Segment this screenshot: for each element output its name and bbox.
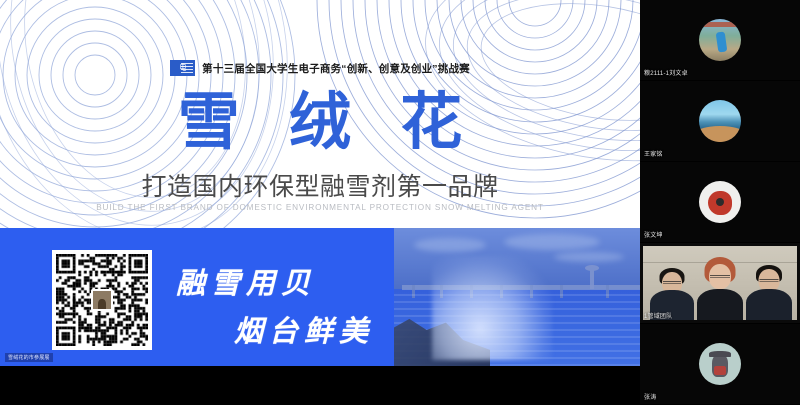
participant-tile-3[interactable]: 张文坤 [640, 162, 800, 243]
participant-tile-4-active-speaker[interactable]: 1管域团队 [640, 243, 800, 324]
participant-name: 王家铭 [644, 149, 663, 158]
slide-english-tagline: BUILD THE FIRST BRAND OF DOMESTIC ENVIRO… [0, 203, 640, 212]
meeting-screen: 电 第十三届全国大学生电子商务“创新、创意及创业”挑战赛 雪 绒 花 打造国内环… [0, 0, 800, 405]
video-room-background [643, 246, 797, 320]
competition-badge-icon: 电 [170, 60, 195, 76]
participant-rail[interactable]: 粮2111-1刘文卓 王家铭 张文坤 [640, 0, 800, 405]
competition-name: 第十三届全国大学生电子商务“创新、创意及创业”挑战赛 [202, 61, 470, 76]
participant-name: 张涛 [644, 392, 656, 401]
slide-main-title: 雪 绒 花 [0, 90, 640, 155]
avatar-sand [699, 126, 741, 142]
slide-blue-banner: 融雪用贝 烟台鲜美 [0, 228, 640, 366]
participant-name: 1管域团队 [644, 311, 672, 320]
participant-name: 张文坤 [644, 230, 663, 239]
qr-center-figure [98, 299, 106, 311]
cloud-shape [414, 238, 486, 252]
person-body [746, 289, 792, 320]
avatar-eye [716, 198, 724, 206]
cloud-shape [504, 234, 600, 250]
participant-tile-2[interactable]: 王家铭 [640, 81, 800, 162]
avatar-accent [714, 366, 726, 375]
participant-tile-5[interactable]: 张涛 [640, 324, 800, 405]
competition-header: 电 第十三届全国大学生电子商务“创新、创意及创业”挑战赛 [0, 60, 640, 76]
person-right [745, 262, 793, 320]
presentation-slide: 电 第十三届全国大学生电子商务“创新、创意及创业”挑战赛 雪 绒 花 打造国内环… [0, 0, 640, 405]
shared-screen-stage[interactable]: 电 第十三届全国大学生电子商务“创新、创意及创业”挑战赛 雪 绒 花 打造国内环… [0, 0, 640, 405]
calligraphy-line-1: 融雪用贝 [176, 270, 316, 299]
person-glasses [760, 279, 779, 282]
wave-spray [432, 256, 552, 360]
avatar-figure [715, 31, 727, 52]
person-body [697, 289, 743, 320]
avatar-beach-photo [699, 100, 741, 142]
qr-code-icon[interactable] [52, 250, 152, 350]
avatar-anime-teal [699, 343, 741, 385]
participant-tile-1[interactable]: 粮2111-1刘文卓 [640, 0, 800, 81]
cloud-shape [554, 252, 624, 262]
qr-center-logo [91, 289, 113, 311]
badge-lines [181, 63, 193, 73]
calligraphy-slogan: 融雪用贝 烟台鲜美 [176, 256, 396, 356]
coastal-pier-waves-photo [394, 228, 640, 366]
person-center [695, 256, 745, 320]
slide-watermark: 雪绒花的市参展展 [5, 353, 53, 362]
avatar-hat [709, 351, 731, 358]
participant-name: 粮2111-1刘文卓 [644, 68, 688, 77]
slide-upper-section: 电 第十三届全国大学生电子商务“创新、创意及创业”挑战赛 雪 绒 花 打造国内环… [0, 0, 640, 228]
avatar-cartoon-red [699, 181, 741, 223]
slide-letterbox [0, 366, 640, 405]
avatar-outdoor-photo [699, 19, 741, 61]
pier-tower [590, 269, 594, 289]
calligraphy-line-2: 烟台鲜美 [234, 318, 374, 347]
person-glasses [663, 281, 681, 284]
slide-subtitle: 打造国内环保型融雪剂第一品牌 [0, 167, 640, 203]
avatar-band [699, 22, 741, 27]
person-glasses [710, 275, 730, 278]
